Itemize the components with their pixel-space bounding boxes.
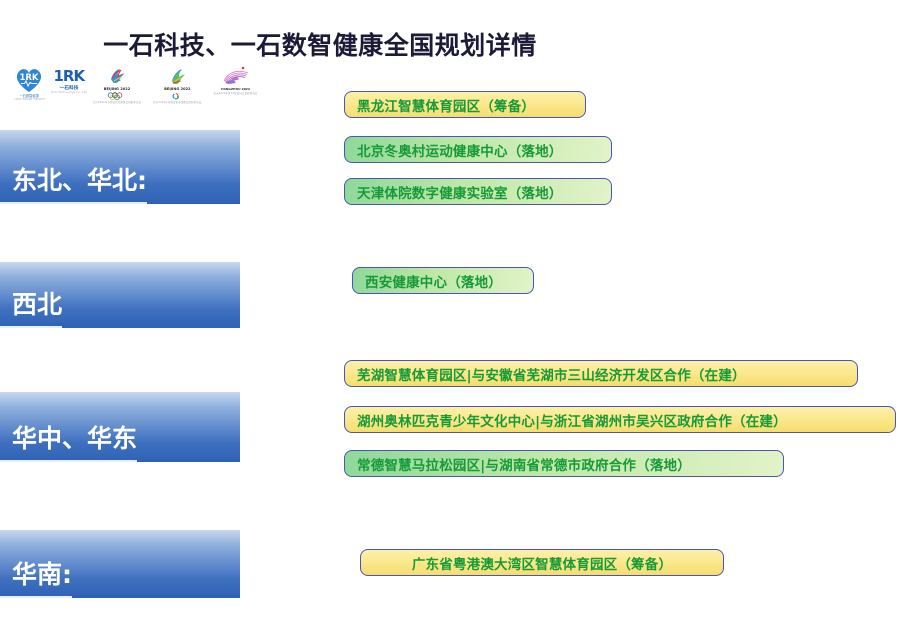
project-pill[interactable]: 黑龙江智慧体育园区（筹备） — [344, 91, 586, 118]
project-pill[interactable]: 湖州奥林匹克青少年文化中心|与浙江省湖州市吴兴区政府合作（在建） — [344, 406, 896, 433]
paralympic-emblem-icon: BEIJING 2022 — [164, 66, 190, 100]
page-title: 一石科技、一石数智健康全国规划详情 — [0, 26, 640, 62]
region-bar-central-east: 华中、华东 — [0, 392, 240, 462]
logo-wordmark: 1RK — [54, 69, 85, 84]
region-bar-northwest: 西北 — [0, 262, 240, 328]
region-bar-northeast-north: 东北、华北: — [0, 130, 240, 204]
yishi-technology-logo: 1RK 一石科技 Yishi Technology Co.,Ltd — [51, 66, 87, 94]
logo-caption: 一石科技 — [59, 85, 78, 91]
emblem-caption: BEIJING 2022 — [164, 87, 190, 91]
svg-text:1RK: 1RK — [20, 73, 39, 83]
emblem-subcaption: 北京2022年冬奥会和冬残奥会组织委员会 — [153, 100, 201, 104]
project-pill[interactable]: 西安健康中心（落地） — [352, 267, 534, 294]
emblem-caption: BEIJING 2022 — [104, 87, 130, 91]
asian-games-emblem-icon: HANGZHOU 2022 — [219, 66, 253, 91]
project-pill[interactable]: 北京冬奥村运动健康中心（落地） — [344, 136, 612, 163]
project-pill[interactable]: 天津体院数字健康实验室（落地） — [344, 178, 612, 205]
region-bar-south: 华南: — [0, 530, 240, 598]
project-pill[interactable]: 常德智慧马拉松园区|与湖南省常德市政府合作（落地） — [344, 450, 784, 477]
logo-subcaption: Yishi Technology Co.,Ltd — [51, 91, 87, 94]
beijing-2022-olympic-winter-games-emblem: BEIJING 2022 北京2022年冬奥会和冬残奥会组织委员会 — [93, 66, 141, 104]
project-pill[interactable]: 芜湖智慧体育园区|与安徽省芜湖市三山经济开发区合作（在建） — [344, 360, 858, 387]
logo-caption: 一石数智健康 — [20, 94, 39, 98]
region-label: 华中、华东 — [0, 426, 137, 462]
heart-icon: 1RK — [14, 66, 44, 93]
olympic-emblem-icon: BEIJING 2022 — [104, 66, 130, 100]
hangzhou-2022-asian-games-emblem: HANGZHOU 2022 杭州2022年第19届亚运会组织委员会 — [214, 66, 258, 95]
emblem-subcaption: 杭州2022年第19届亚运会组织委员会 — [214, 91, 258, 95]
logo-strip: 1RK 一石数智健康 YISHI SMART HEALTH 1RK 一石科技 Y… — [14, 66, 246, 116]
region-label: 东北、华北: — [0, 168, 147, 204]
region-label: 华南: — [0, 562, 72, 598]
region-label: 西北 — [0, 292, 62, 328]
yishi-digital-health-logo: 1RK 一石数智健康 YISHI SMART HEALTH — [14, 66, 45, 101]
project-pill[interactable]: 广东省粤港澳大湾区智慧体育园区（筹备） — [360, 549, 724, 576]
beijing-2022-paralympic-winter-games-emblem: BEIJING 2022 北京2022年冬奥会和冬残奥会组织委员会 — [153, 66, 201, 104]
logo-subcaption: YISHI SMART HEALTH — [14, 98, 45, 101]
emblem-subcaption: 北京2022年冬奥会和冬残奥会组织委员会 — [93, 100, 141, 104]
